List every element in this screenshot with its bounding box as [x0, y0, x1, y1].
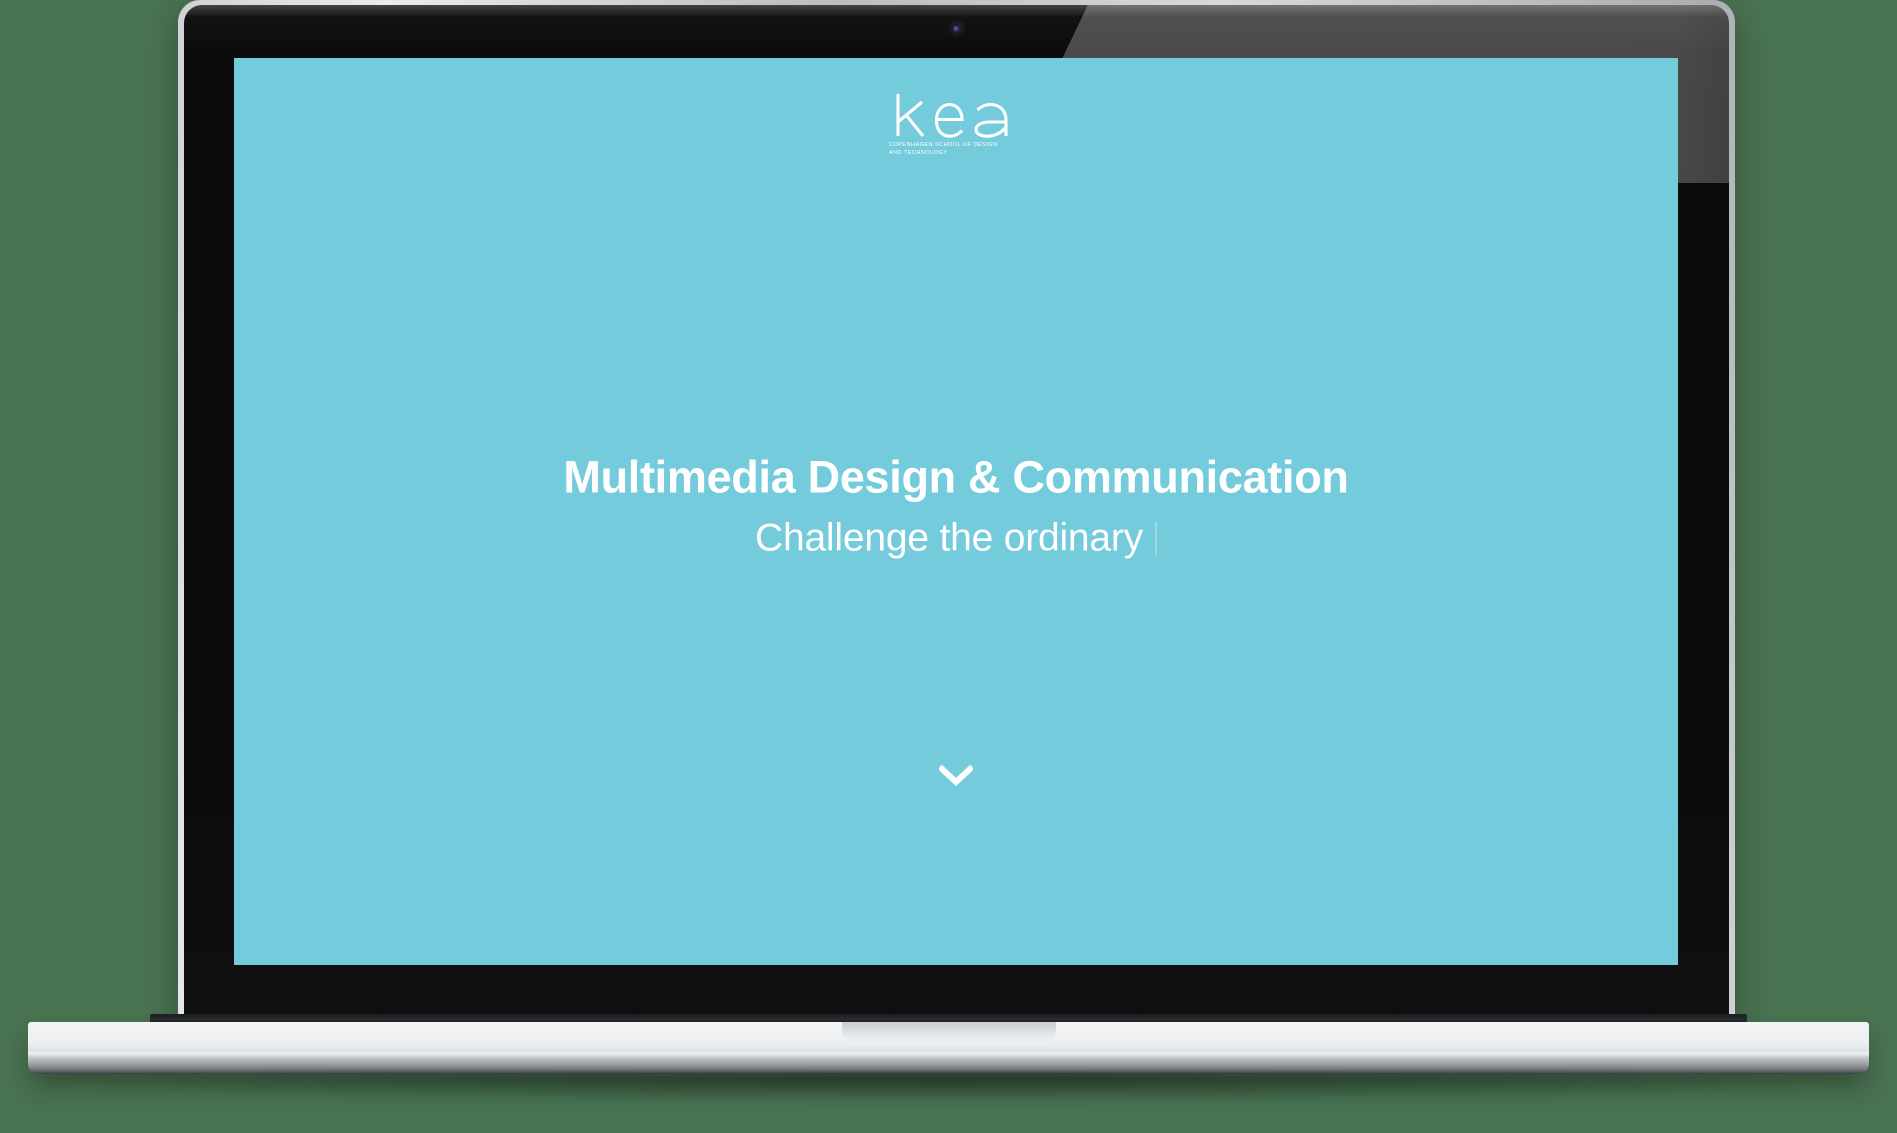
text-caret — [1155, 521, 1157, 555]
laptop-base — [28, 1022, 1869, 1074]
bezel-top-highlight — [184, 5, 1729, 17]
base-front-highlight — [28, 1052, 1869, 1058]
page-subtitle: Challenge the ordinary — [234, 516, 1678, 561]
device-shadow — [48, 1074, 1849, 1100]
hero-text-block: Multimedia Design & Communication Challe… — [234, 452, 1678, 571]
kea-tagline-line-1: COPENHAGEN SCHOOL OF DESIGN — [886, 141, 1026, 149]
kea-logo[interactable]: COPENHAGEN SCHOOL OF DESIGN AND TECHNOLO… — [886, 92, 1026, 157]
scroll-down-button[interactable] — [939, 765, 973, 787]
kea-tagline-line-2: AND TECHNOLOGY — [886, 149, 1026, 157]
chevron-down-icon — [939, 765, 973, 787]
laptop-lid: COPENHAGEN SCHOOL OF DESIGN AND TECHNOLO… — [178, 0, 1735, 1022]
webcam-lens — [954, 26, 960, 32]
kea-logo-tagline: COPENHAGEN SCHOOL OF DESIGN AND TECHNOLO… — [886, 141, 1026, 157]
screen: COPENHAGEN SCHOOL OF DESIGN AND TECHNOLO… — [234, 58, 1678, 965]
page-subtitle-text: Challenge the ordinary — [755, 516, 1143, 559]
page-title: Multimedia Design & Communication — [234, 452, 1678, 502]
webcam-icon — [949, 21, 964, 36]
kea-wordmark-icon — [892, 92, 1020, 138]
display-bezel: COPENHAGEN SCHOOL OF DESIGN AND TECHNOLO… — [184, 5, 1729, 1022]
lid-opening-notch — [842, 1022, 1056, 1042]
laptop-device: COPENHAGEN SCHOOL OF DESIGN AND TECHNOLO… — [0, 0, 1897, 1133]
website-hero-section: COPENHAGEN SCHOOL OF DESIGN AND TECHNOLO… — [234, 58, 1678, 965]
